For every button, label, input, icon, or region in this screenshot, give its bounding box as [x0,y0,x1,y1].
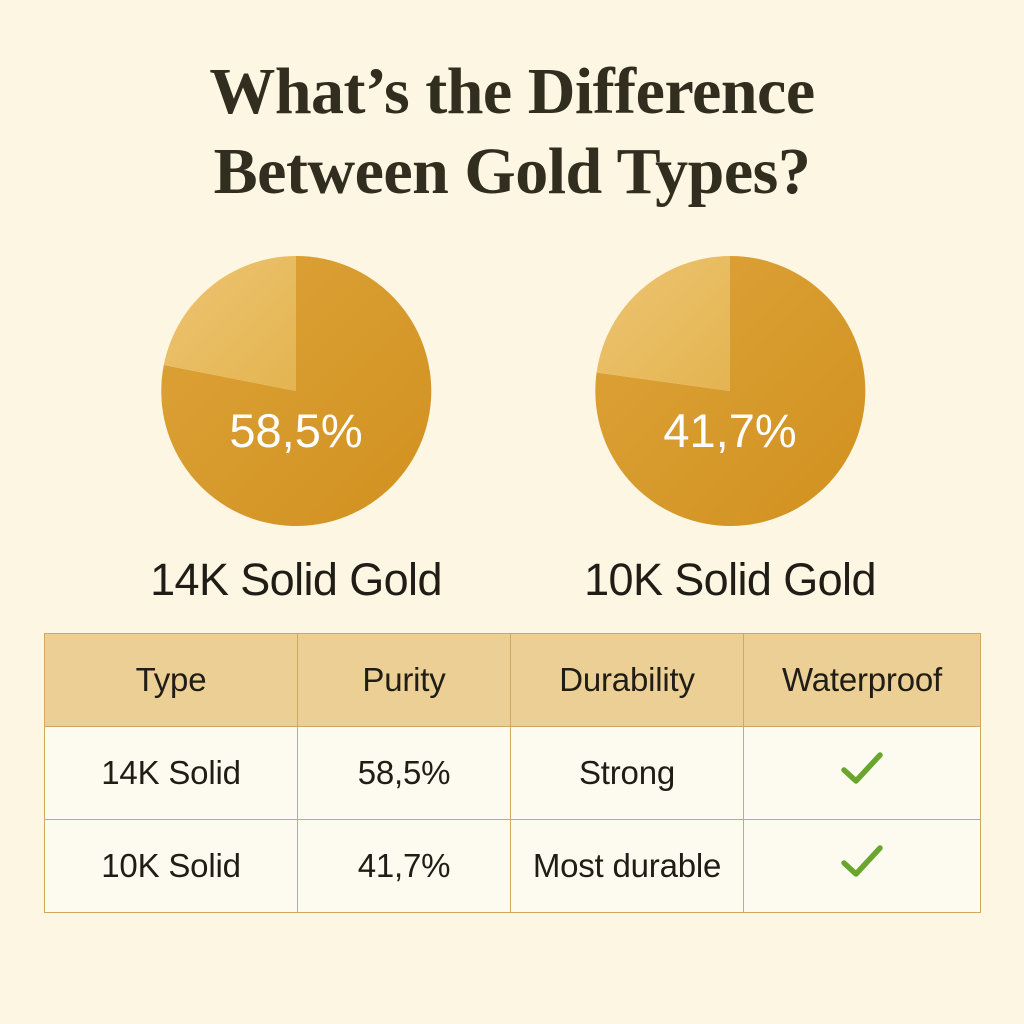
infographic-page: What’s the Difference Between Gold Types… [0,0,1024,1024]
column-header-waterproof: Waterproof [744,634,981,727]
column-header-purity: Purity [298,634,511,727]
pie-chart-10k: 41,7% 10K Solid Gold [540,250,920,606]
pie-14k-caption: 14K Solid Gold [106,554,486,606]
table-header-row: Type Purity Durability Waterproof [45,634,981,727]
cell-waterproof [744,820,981,913]
pie-chart-14k: 58,5% 14K Solid Gold [106,250,486,606]
page-title-line-2: Between Gold Types? [0,132,1024,212]
cell-purity: 41,7% [298,820,511,913]
check-icon [841,752,883,786]
column-header-durability: Durability [511,634,744,727]
pie-10k-slice-alloy [597,256,730,391]
check-icon [841,845,883,879]
pie-10k-svg [593,254,867,528]
pie-14k-value-label: 58,5% [159,407,433,454]
page-title: What’s the Difference Between Gold Types… [0,52,1024,212]
table-row: 10K Solid 41,7% Most durable [45,820,981,913]
page-title-line-1: What’s the Difference [0,52,1024,132]
pie-chart-10k-graphic: 41,7% [593,254,867,528]
pie-14k-svg [159,254,433,528]
cell-durability: Strong [511,727,744,820]
pie-chart-section: 58,5% 14K Solid Gold [0,250,1024,610]
cell-type: 14K Solid [45,727,298,820]
gold-comparison-table: Type Purity Durability Waterproof 14K So… [44,633,981,913]
cell-type: 10K Solid [45,820,298,913]
table-row: 14K Solid 58,5% Strong [45,727,981,820]
cell-purity: 58,5% [298,727,511,820]
cell-durability: Most durable [511,820,744,913]
pie-10k-caption: 10K Solid Gold [540,554,920,606]
column-header-type: Type [45,634,298,727]
pie-10k-value-label: 41,7% [593,407,867,454]
pie-chart-14k-graphic: 58,5% [159,254,433,528]
cell-waterproof [744,727,981,820]
